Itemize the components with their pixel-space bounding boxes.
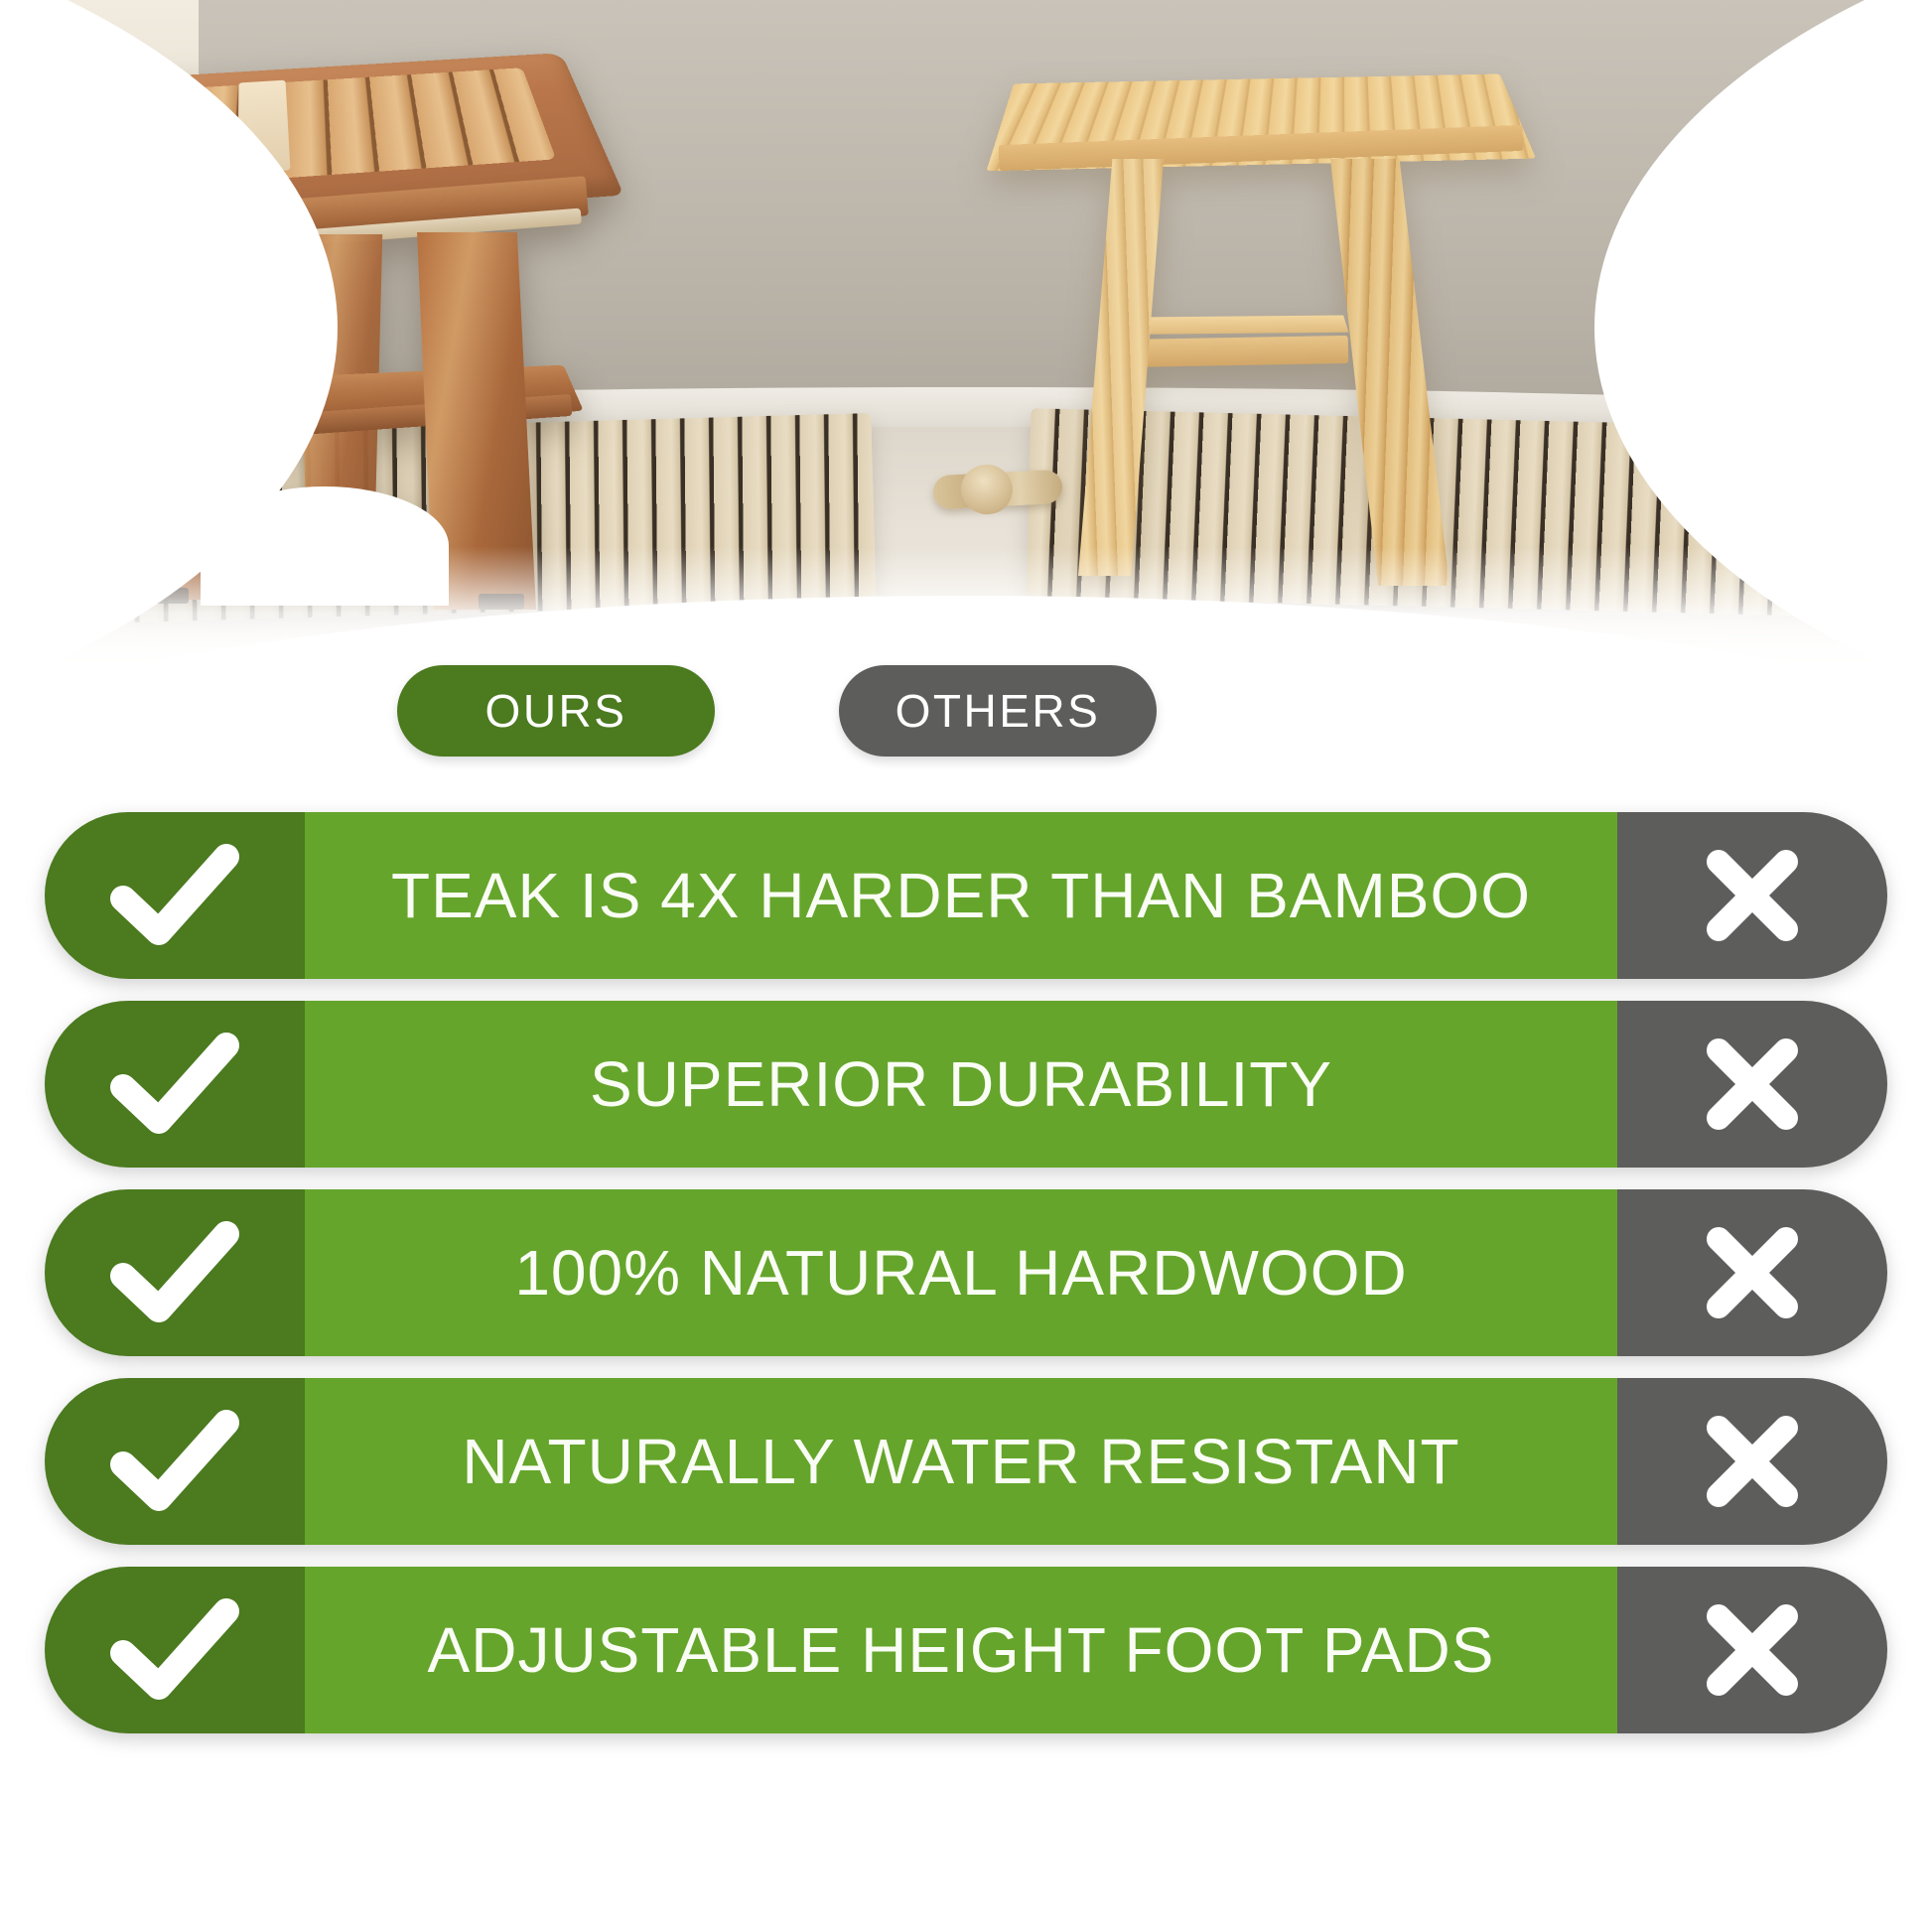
bamboo-stretcher-face <box>1120 315 1349 334</box>
check-icon <box>45 812 305 979</box>
comparison-infographic: OURS OTHERS TEAK IS 4X HARDER THAN BAMBO… <box>0 0 1932 1932</box>
cross-icon <box>1617 1378 1887 1545</box>
badge-others-label: OTHERS <box>896 684 1101 738</box>
comparison-row: ADJUSTABLE HEIGHT FOOT PADS <box>0 1567 1932 1733</box>
comparison-row-label: 100% NATURAL HARDWOOD <box>305 1189 1617 1356</box>
bamboo-leg-left <box>1078 159 1164 576</box>
comparison-row-label: TEAK IS 4X HARDER THAN BAMBOO <box>305 812 1617 979</box>
badge-others: OTHERS <box>839 665 1157 757</box>
check-icon <box>45 1378 305 1545</box>
cross-icon <box>1617 1189 1887 1356</box>
comparison-row-label: NATURALLY WATER RESISTANT <box>305 1378 1617 1545</box>
badge-ours: OURS <box>397 665 715 757</box>
check-icon <box>45 1001 305 1168</box>
cross-icon <box>1617 1567 1887 1733</box>
badge-ours-label: OURS <box>485 684 627 738</box>
comparison-row-label: SUPERIOR DURABILITY <box>305 1001 1617 1168</box>
bamboo-stool <box>983 40 1539 596</box>
comparison-row: TEAK IS 4X HARDER THAN BAMBOO <box>0 812 1932 979</box>
bamboo-leg-right <box>1330 159 1449 586</box>
comparison-rows: TEAK IS 4X HARDER THAN BAMBOOSUPERIOR DU… <box>0 812 1932 1755</box>
comparison-row: 100% NATURAL HARDWOOD <box>0 1189 1932 1356</box>
bamboo-stretcher <box>1120 336 1348 367</box>
check-icon <box>45 1189 305 1356</box>
comparison-row: SUPERIOR DURABILITY <box>0 1001 1932 1168</box>
comparison-row-label: ADJUSTABLE HEIGHT FOOT PADS <box>305 1567 1617 1733</box>
cross-icon <box>1617 812 1887 979</box>
product-comparison-photo <box>0 0 1932 695</box>
check-icon <box>45 1567 305 1733</box>
comparison-row: NATURALLY WATER RESISTANT <box>0 1378 1932 1545</box>
cross-icon <box>1617 1001 1887 1168</box>
